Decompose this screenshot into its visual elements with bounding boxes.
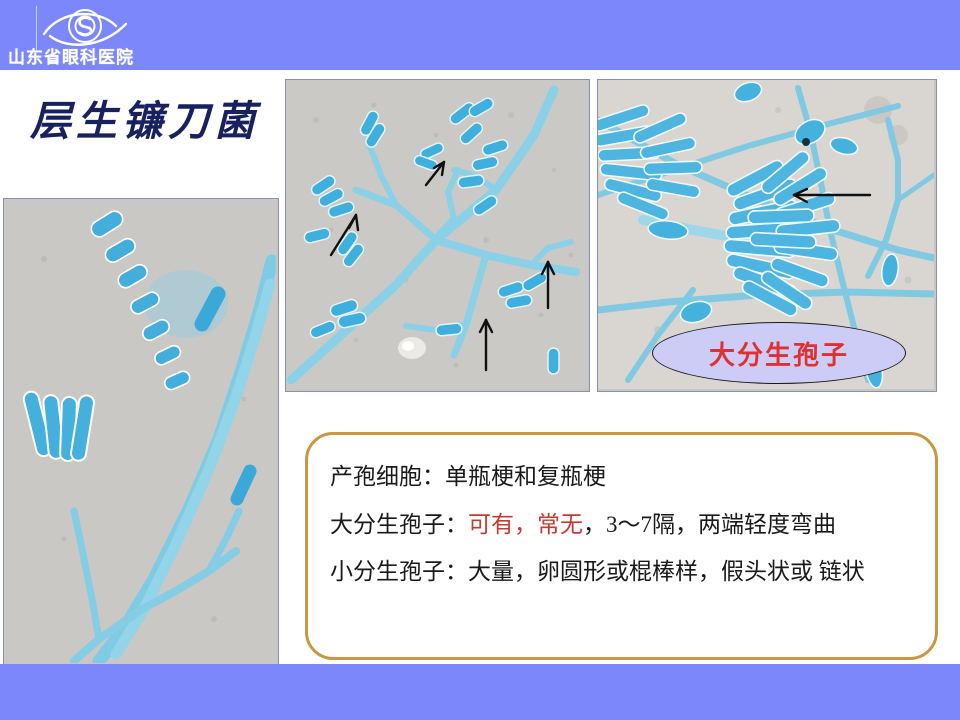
header-logo-group: 山东省眼科医院: [0, 0, 210, 70]
description-line-2-suffix: ，3～7隔，两端轻度弯曲: [583, 512, 836, 537]
logo-divider: [36, 6, 37, 50]
micrograph-middle: [285, 79, 590, 392]
description-line-2-prefix: 大分生孢子：: [330, 512, 468, 537]
description-box: 产孢细胞：单瓶梗和复瓶梗 大分生孢子：可有，常无，3～7隔，两端轻度弯曲 小分生…: [305, 432, 938, 660]
page-title: 层生镰刀菌: [30, 96, 280, 146]
description-line-1: 产孢细胞：单瓶梗和复瓶梗: [330, 453, 911, 501]
callout-label: 大分生孢子: [709, 335, 849, 372]
micrograph-left: [3, 198, 279, 666]
description-line-3-text: 小分生孢子：大量，卵圆形或棍棒样，假头状或 链状: [330, 559, 865, 584]
callout-macroconidia: 大分生孢子: [652, 322, 906, 384]
eye-logo-icon: [40, 4, 140, 52]
header-banner: 山东省眼科医院: [0, 0, 960, 70]
description-line-2: 大分生孢子：可有，常无，3～7隔，两端轻度弯曲: [330, 501, 911, 549]
description-line-1-text: 产孢细胞：单瓶梗和复瓶梗: [330, 464, 606, 489]
hospital-name-label: 山东省眼科医院: [8, 47, 140, 69]
description-line-3: 小分生孢子：大量，卵圆形或棍棒样，假头状或 链状: [330, 549, 911, 595]
description-line-2-highlight: 可有，常无: [468, 512, 583, 537]
footer-banner: [0, 664, 960, 720]
